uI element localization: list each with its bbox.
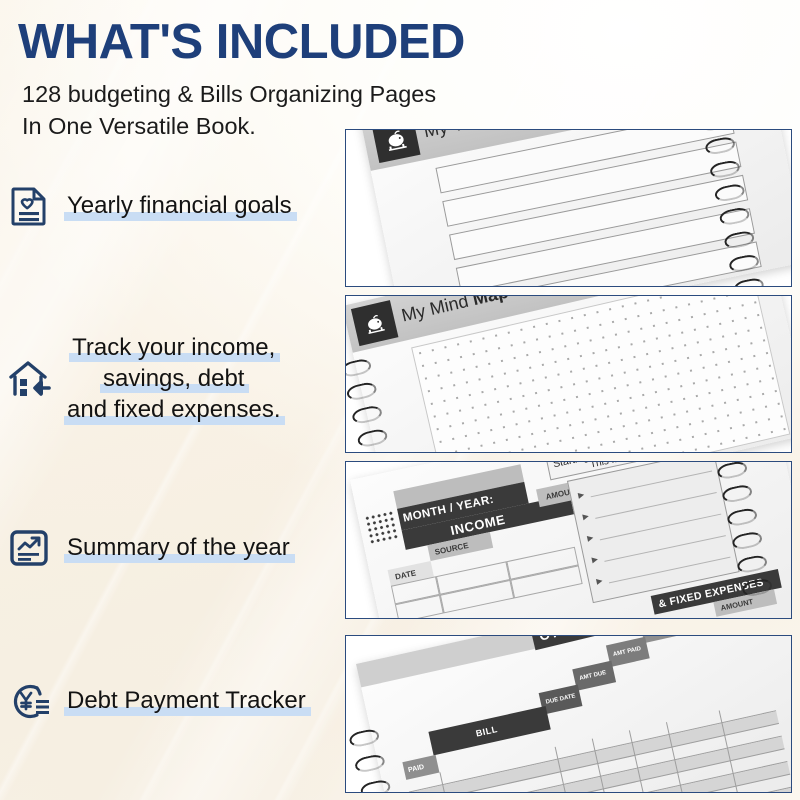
spiral-ring	[362, 451, 395, 453]
due-date-text: DUE DATE	[545, 693, 576, 705]
feature-line: Summary of the year	[64, 532, 293, 563]
date-text: DATE	[394, 568, 417, 581]
goal-bullet	[578, 492, 585, 499]
feature-label: Debt Payment Tracker	[64, 685, 309, 716]
goal-bullet	[582, 513, 589, 520]
spiral-ring	[731, 530, 763, 551]
chart-report-icon	[6, 525, 52, 571]
whats-included-infographic: WHAT'S INCLUDED 128 budgeting & Bills Or…	[0, 0, 800, 800]
page-title: WHAT'S INCLUDED	[18, 18, 465, 68]
feature-label: Yearly financial goals	[64, 190, 295, 221]
column-header-amt-due: AMT DUE	[572, 661, 616, 691]
product-image-other-bills-expenses: OTHER BILLS & EXP NOTES UNPAID BALANCE A…	[345, 635, 792, 793]
feature-label: Summary of the year	[64, 532, 293, 563]
product-image-mind-map: My Mind Map	[345, 295, 792, 453]
month-tab[interactable]: JAN	[496, 461, 512, 462]
spiral-ring	[726, 507, 758, 528]
spiral-ring	[345, 381, 378, 402]
dot-square-icon	[364, 510, 400, 546]
spiral-ring	[741, 577, 773, 598]
spiral-ring	[345, 357, 373, 378]
feature-summary-of-year: Summary of the year	[6, 525, 358, 571]
spiral-ring	[721, 483, 753, 504]
bill-text: BILL	[475, 724, 499, 739]
amt-paid-text: AMT PAID	[613, 646, 642, 658]
spiral-ring	[359, 778, 392, 793]
spiral-ring	[736, 554, 768, 575]
spiral-ring	[723, 229, 755, 250]
spiral-ring	[714, 182, 746, 203]
spiral-ring	[716, 461, 748, 481]
feature-line: Track your income,	[69, 332, 278, 363]
feature-line: Yearly financial goals	[64, 190, 295, 221]
house-arrow-icon	[6, 356, 52, 402]
spiral-ring	[718, 206, 750, 227]
spiral-ring	[704, 135, 736, 156]
spiral-ring	[351, 404, 384, 425]
column-header-amt-paid: AMT PAID	[606, 637, 650, 667]
source-text: SOURCE	[434, 540, 469, 556]
spiral-ring	[354, 753, 387, 774]
feature-line: and fixed expenses.	[64, 394, 283, 425]
feature-label: Track your income, savings, debt and fix…	[64, 332, 283, 426]
spiral-ring	[699, 129, 731, 133]
spiral-ring	[709, 159, 741, 180]
product-image-month-year-budget: JAN FEB MAR APR MAY JUN JUL AUG MONTH / …	[345, 461, 792, 619]
feature-line: savings, debt	[100, 363, 247, 394]
spiral-ring	[356, 427, 389, 448]
goal-bullet	[596, 578, 603, 585]
feature-track-income: Track your income, savings, debt and fix…	[6, 332, 358, 426]
spiral-ring	[733, 277, 765, 287]
feature-line: Debt Payment Tracker	[64, 685, 309, 716]
document-heart-icon	[6, 183, 52, 229]
feature-yearly-financial-goals: Yearly financial goals	[6, 183, 358, 229]
goal-bullet	[587, 535, 594, 542]
top-grey-strip	[356, 635, 791, 687]
product-image-yearly-financial-goals: My Yearly Financial Goals	[345, 129, 792, 287]
subtitle-line-1: 128 budgeting & Bills Organizing Pages	[22, 78, 436, 110]
amt-due-text: AMT DUE	[579, 670, 607, 682]
spiral-ring	[348, 728, 381, 749]
goal-bullet	[591, 556, 598, 563]
column-header-unpaid-balance: UNPAID BALANCE	[640, 635, 697, 643]
spiral-ring	[728, 253, 760, 274]
feature-debt-payment-tracker: Debt Payment Tracker	[6, 678, 358, 724]
currency-circle-icon	[6, 678, 52, 724]
